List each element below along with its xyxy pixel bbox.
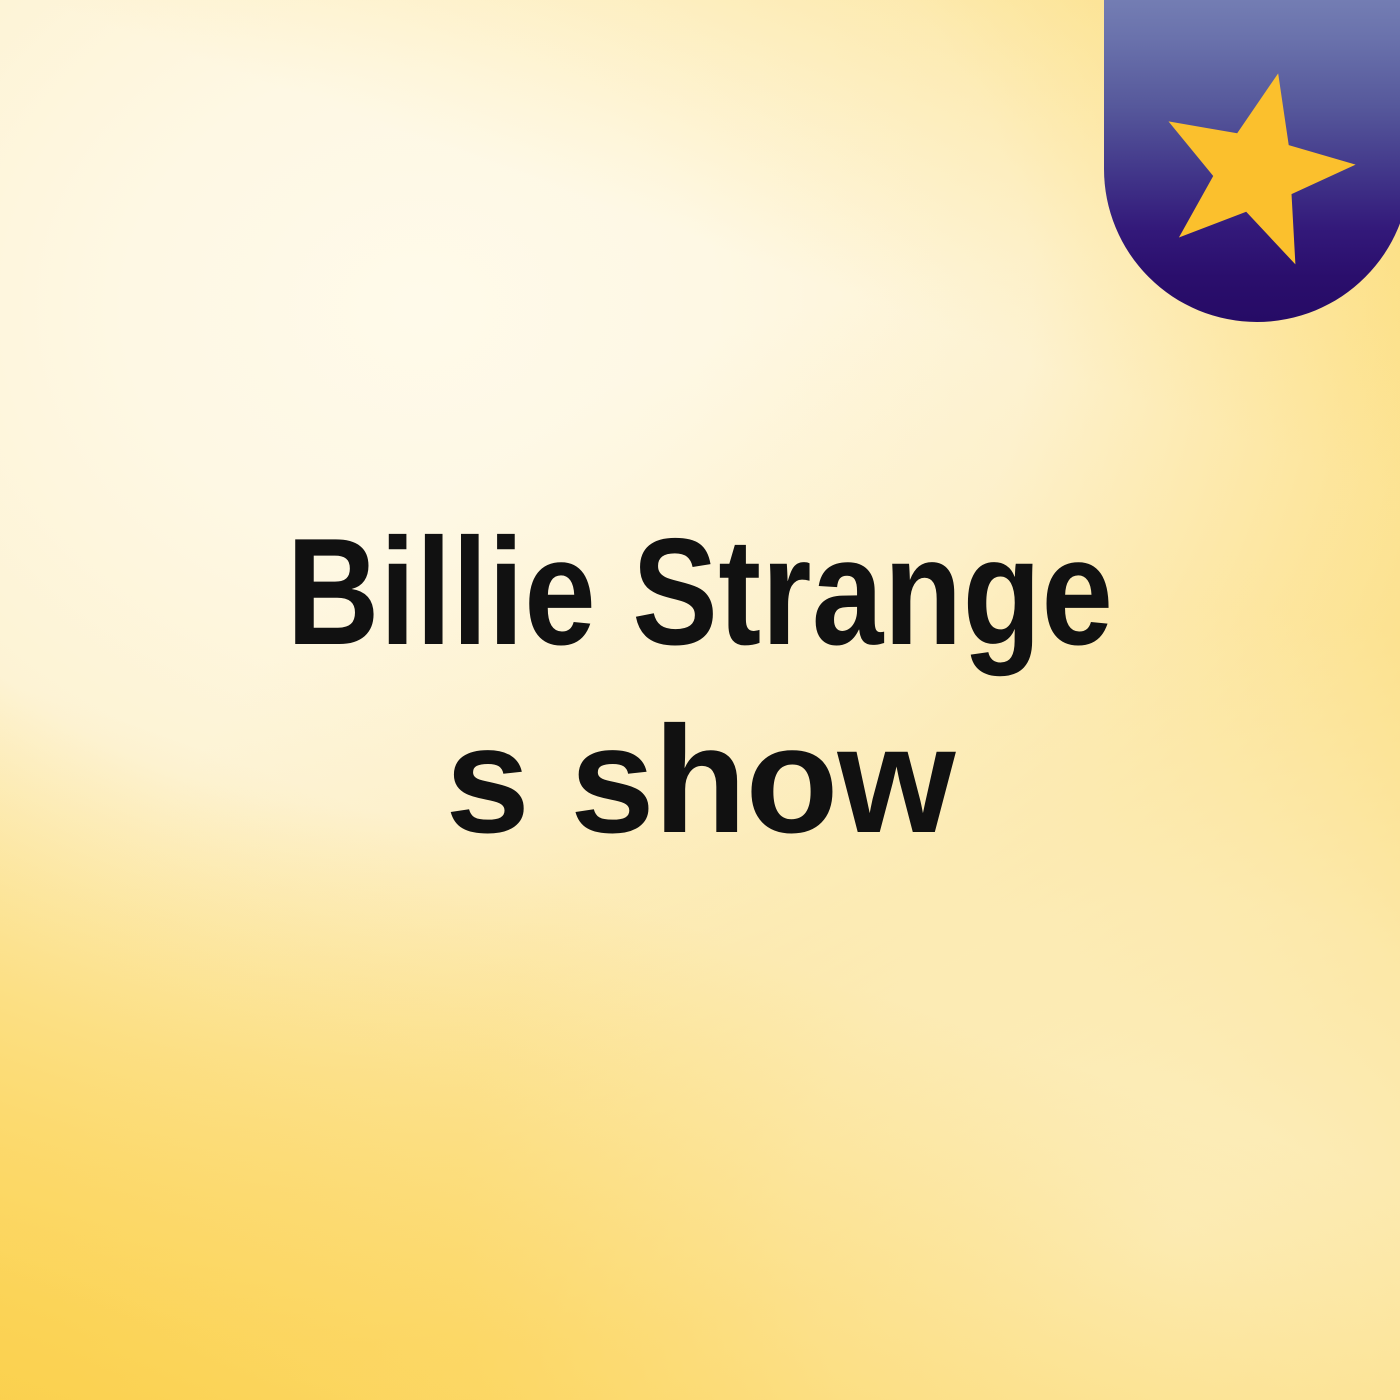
cover-art-canvas: Billie Strange s show [0,0,1400,1400]
show-title-line-1: Billie Strange [109,498,1292,686]
show-title-line-2: s show [0,686,1400,874]
star-badge [1104,0,1400,322]
star-icon [1139,47,1374,282]
show-title: Billie Strange s show [0,498,1400,874]
